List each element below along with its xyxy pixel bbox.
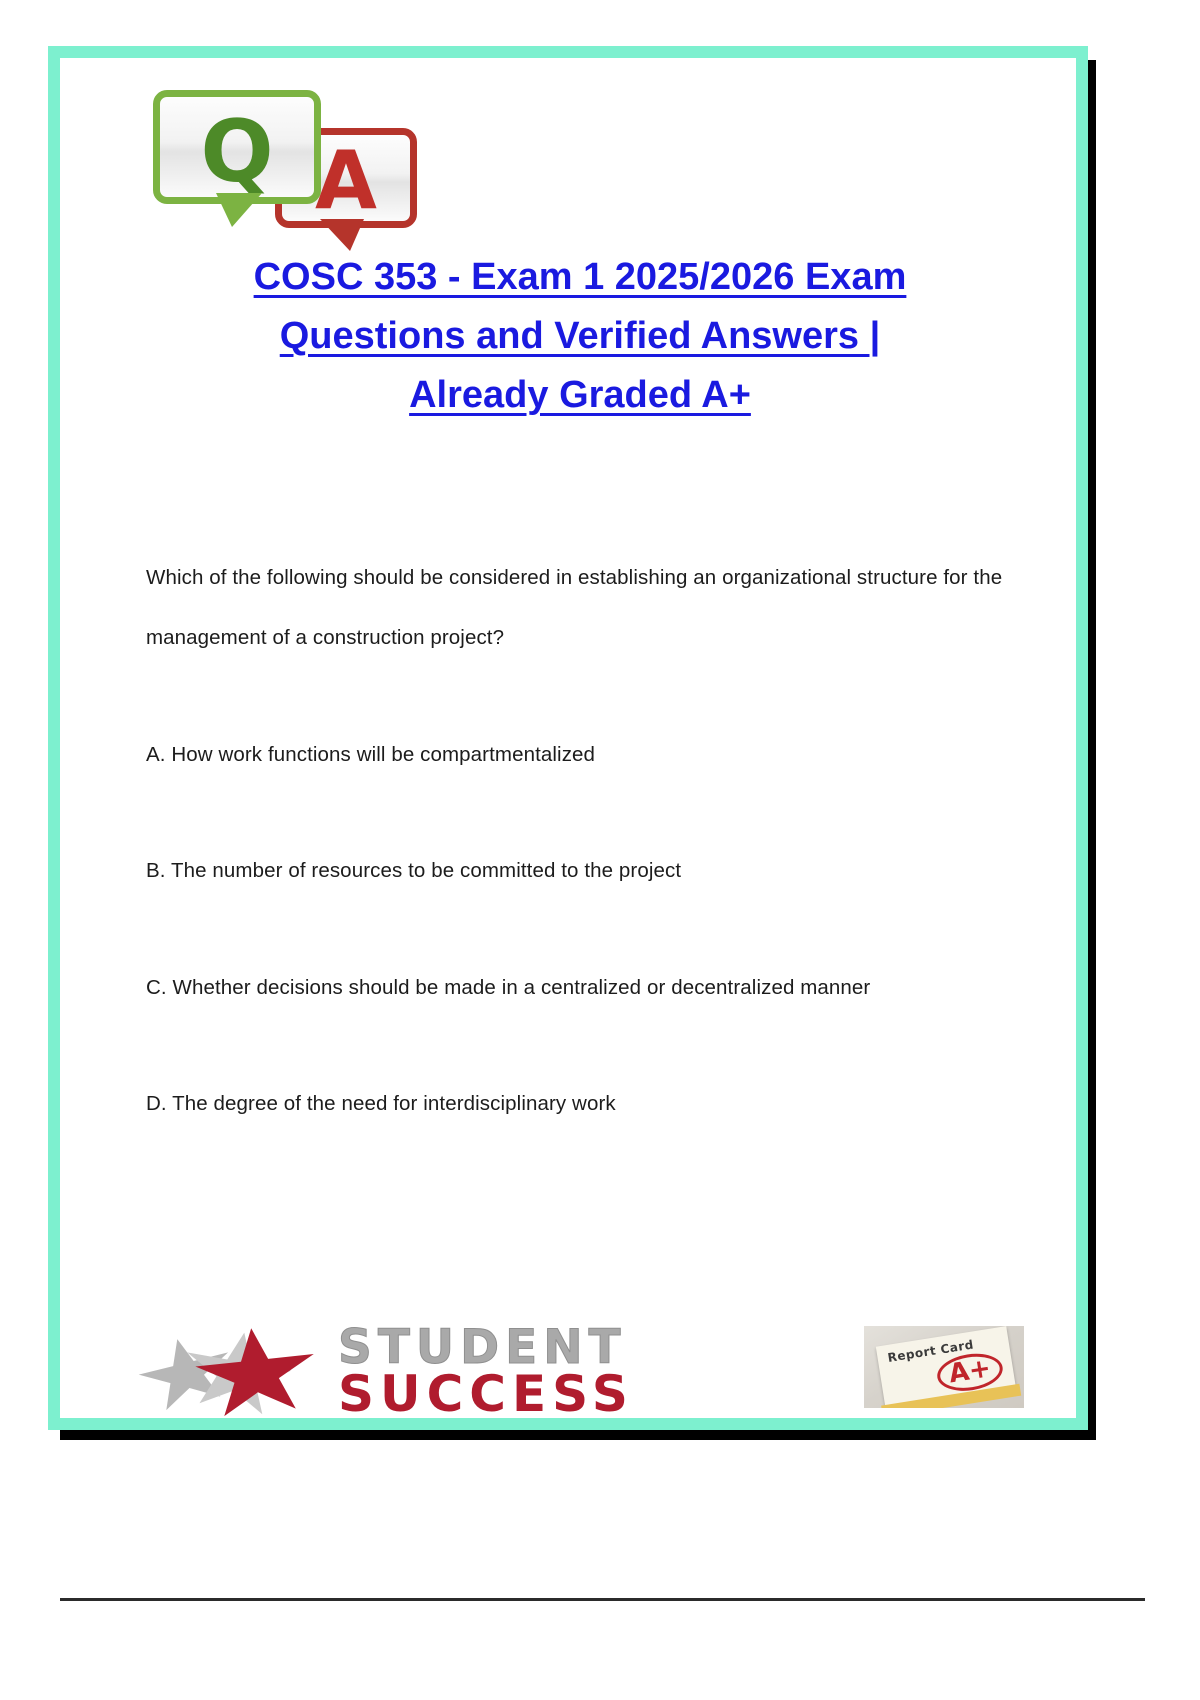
question-bubble-tail-icon	[216, 193, 262, 227]
question-bubble-icon: Q	[153, 90, 321, 204]
qa-logo: A Q	[145, 82, 425, 237]
title-line-2: Questions and Verified Answers |	[280, 315, 881, 357]
answer-bubble-tail-icon	[320, 219, 364, 251]
question-bubble-letter: Q	[160, 109, 314, 195]
student-success-banner: STUDENT SUCCESS Report Card A+	[138, 1330, 1018, 1410]
report-card-paper: Report Card A+	[876, 1326, 1016, 1408]
answer-option-c: C. Whether decisions should be made in a…	[146, 958, 1026, 1018]
document-page: A Q COSC 353 - Exam 1 2025/2026 Exam Que…	[0, 0, 1200, 1700]
question-block: Which of the following should be conside…	[146, 548, 1026, 1135]
brand-line-student: STUDENT	[338, 1326, 898, 1371]
title-line-3: Already Graded A+	[409, 374, 751, 416]
answer-option-a: A. How work functions will be compartmen…	[146, 725, 1026, 785]
answer-option-b: B. The number of resources to be committ…	[146, 841, 1026, 901]
report-card-grade: A+	[935, 1349, 1006, 1395]
page-separator-rule	[60, 1598, 1145, 1601]
brand-wordmark: STUDENT SUCCESS	[338, 1326, 898, 1418]
page-border-frame: A Q COSC 353 - Exam 1 2025/2026 Exam Que…	[48, 46, 1088, 1430]
title-line-1: COSC 353 - Exam 1 2025/2026 Exam	[254, 256, 907, 298]
question-stem: Which of the following should be conside…	[146, 548, 1026, 669]
stars-icon	[138, 1328, 353, 1410]
answer-option-d: D. The degree of the need for interdisci…	[146, 1074, 1026, 1134]
brand-line-success: SUCCESS	[338, 1371, 898, 1418]
page-sheet: A Q COSC 353 - Exam 1 2025/2026 Exam Que…	[60, 58, 1076, 1418]
page-title: COSC 353 - Exam 1 2025/2026 Exam Questio…	[160, 248, 1000, 425]
report-card-image: Report Card A+	[864, 1326, 1024, 1408]
